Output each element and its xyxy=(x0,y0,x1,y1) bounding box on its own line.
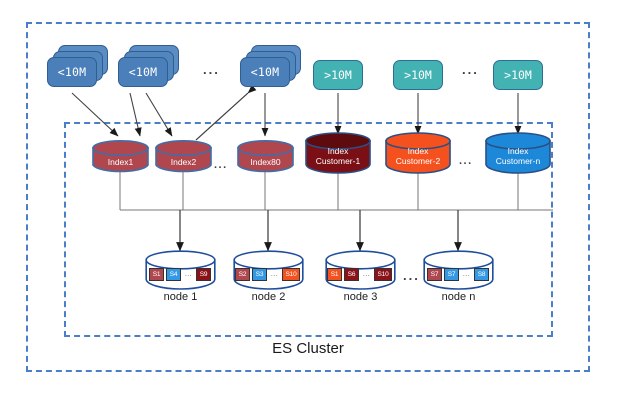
node-label-3: node 3 xyxy=(325,291,396,303)
index-customer-ellipsis: ... xyxy=(459,155,473,167)
node-label-n: node n xyxy=(423,291,494,303)
node-cylinder-1[interactable]: S1 S4 ... S9 xyxy=(145,250,216,290)
shard-ellipsis: ... xyxy=(361,271,372,278)
shard-chip[interactable]: S6 xyxy=(344,268,359,281)
diagram-canvas: <10M <10M ... <10M >10M >10M ... >10M In… xyxy=(0,0,640,404)
shard-ellipsis: ... xyxy=(269,271,280,278)
index-cylinder-index2[interactable]: Index2 xyxy=(155,140,212,173)
app-stack-sheet-front: <10M xyxy=(240,57,290,87)
node-shard-row: S1 S6 ... S10 xyxy=(327,268,392,281)
index-small-ellipsis: ... xyxy=(214,159,228,171)
shard-chip[interactable]: S8 xyxy=(474,268,489,281)
index-cylinder-index80[interactable]: Index80 xyxy=(237,140,294,173)
producer-app-label: <10M xyxy=(251,65,280,79)
node-cylinder-3[interactable]: S1 S6 ... S10 xyxy=(325,250,396,290)
producer-app-large-3[interactable]: >10M xyxy=(493,60,543,90)
node-cylinder-2[interactable]: S2 S3 ... S10 xyxy=(233,250,304,290)
app-stack-sheet-front: <10M xyxy=(118,57,168,87)
index-cylinder-customer-2[interactable]: Index Customer-2 xyxy=(385,132,451,174)
index-cylinder-customer-1[interactable]: Index Customer-1 xyxy=(305,132,371,174)
shard-chip[interactable]: S7 xyxy=(427,268,442,281)
index-cylinder-customer-n[interactable]: Index Customer-n xyxy=(485,132,551,174)
es-cluster-caption: ES Cluster xyxy=(26,340,590,357)
shard-chip[interactable]: S10 xyxy=(282,268,300,281)
shard-chip[interactable]: S3 xyxy=(252,268,267,281)
producer-app-small-2[interactable]: <10M xyxy=(118,45,179,87)
producer-app-small-1[interactable]: <10M xyxy=(47,45,108,87)
shard-chip[interactable]: S9 xyxy=(196,268,211,281)
app-stack-sheet-front: <10M xyxy=(47,57,97,87)
producer-app-large-2[interactable]: >10M xyxy=(393,60,443,90)
shard-chip[interactable]: S1 xyxy=(327,268,342,281)
shard-chip[interactable]: S10 xyxy=(374,268,392,281)
shard-chip[interactable]: S7 xyxy=(444,268,459,281)
index-cylinder-index1[interactable]: Index1 xyxy=(92,140,149,173)
producer-app-label: <10M xyxy=(129,65,158,79)
shard-chip[interactable]: S1 xyxy=(149,268,164,281)
producer-app-label: >10M xyxy=(404,68,432,82)
producer-app-large-1[interactable]: >10M xyxy=(313,60,363,90)
node-ellipsis: ... xyxy=(403,268,420,283)
node-shard-row: S1 S4 ... S9 xyxy=(149,268,211,281)
producer-app-small-3[interactable]: <10M xyxy=(240,45,301,87)
producer-app-label: >10M xyxy=(504,68,532,82)
producer-small-ellipsis: ... xyxy=(203,62,220,77)
node-label-1: node 1 xyxy=(145,291,216,303)
producer-large-ellipsis: ... xyxy=(462,62,479,77)
shard-chip[interactable]: S4 xyxy=(166,268,181,281)
node-shard-row: S2 S3 ... S10 xyxy=(235,268,300,281)
producer-app-label: >10M xyxy=(324,68,352,82)
shard-chip[interactable]: S2 xyxy=(235,268,250,281)
shard-ellipsis: ... xyxy=(183,271,194,278)
node-cylinder-n[interactable]: S7 S7 ... S8 xyxy=(423,250,494,290)
node-label-2: node 2 xyxy=(233,291,304,303)
producer-app-label: <10M xyxy=(58,65,87,79)
node-shard-row: S7 S7 ... S8 xyxy=(427,268,489,281)
shard-ellipsis: ... xyxy=(461,271,472,278)
